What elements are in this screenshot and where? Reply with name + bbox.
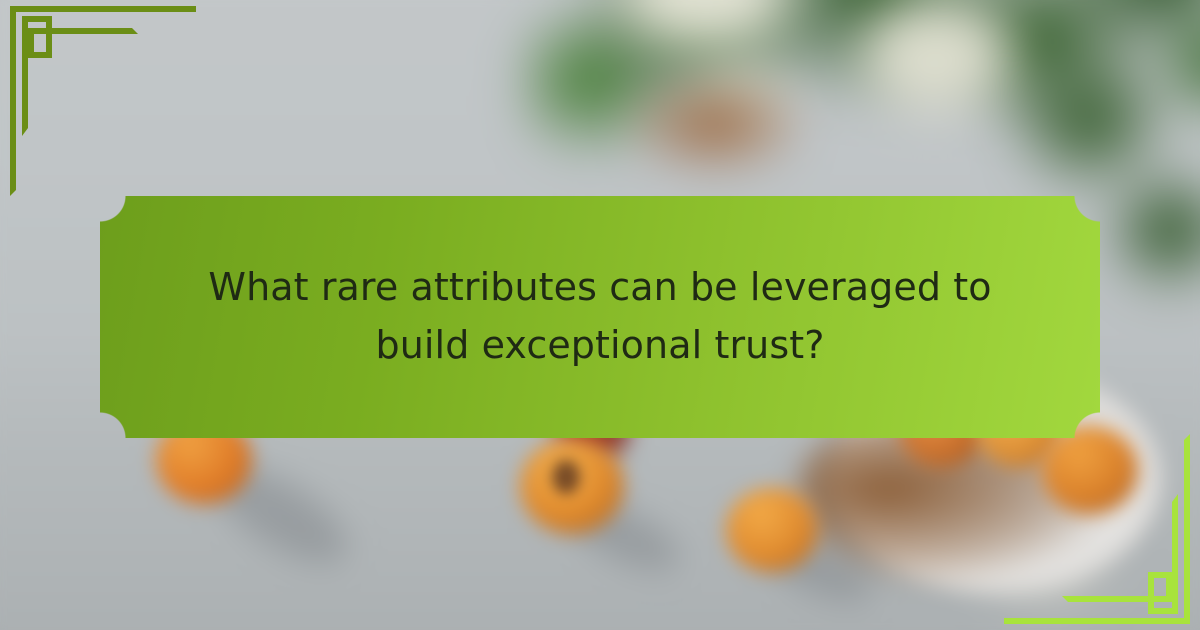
social-share-card: What rare attributes can be leveraged to… <box>0 0 1200 630</box>
headline-text: What rare attributes can be leveraged to… <box>100 259 1100 375</box>
headline-banner: What rare attributes can be leveraged to… <box>100 196 1100 438</box>
